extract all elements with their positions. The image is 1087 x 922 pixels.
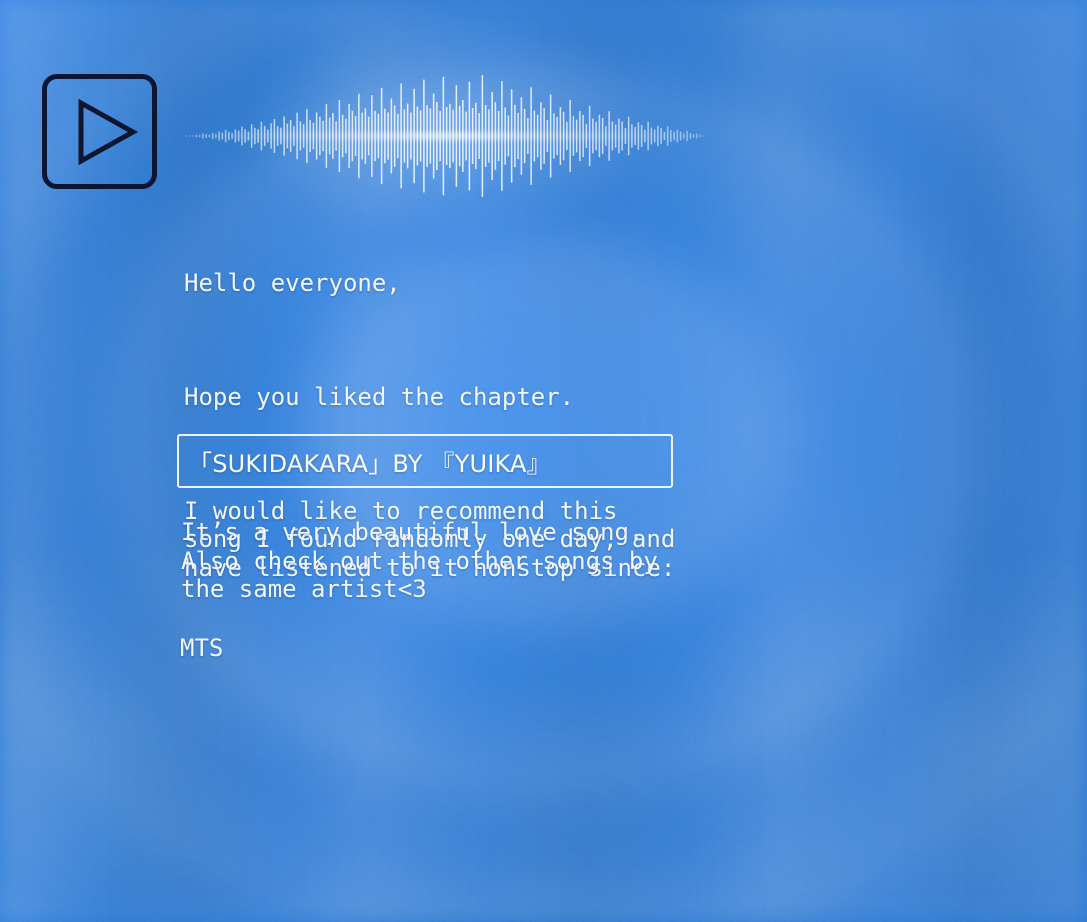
song-title-box[interactable]: 「SUKIDAKARA」BY 『YUIKA』: [177, 434, 673, 488]
waveform-bars: [185, 66, 705, 206]
signature: MTS: [180, 634, 223, 663]
play-button[interactable]: [42, 74, 157, 189]
play-icon: [57, 89, 143, 175]
song-title-text: 「SUKIDAKARA」BY 『YUIKA』: [188, 444, 551, 479]
chapter-line: Hope you liked the chapter.: [184, 383, 884, 412]
outro-paragraph: It’s a very beautiful love song. Also ch…: [181, 518, 901, 604]
audio-waveform: [185, 66, 705, 206]
note-canvas: Hello everyone, Hope you liked the chapt…: [0, 0, 1087, 922]
greeting-line: Hello everyone,: [184, 269, 884, 298]
